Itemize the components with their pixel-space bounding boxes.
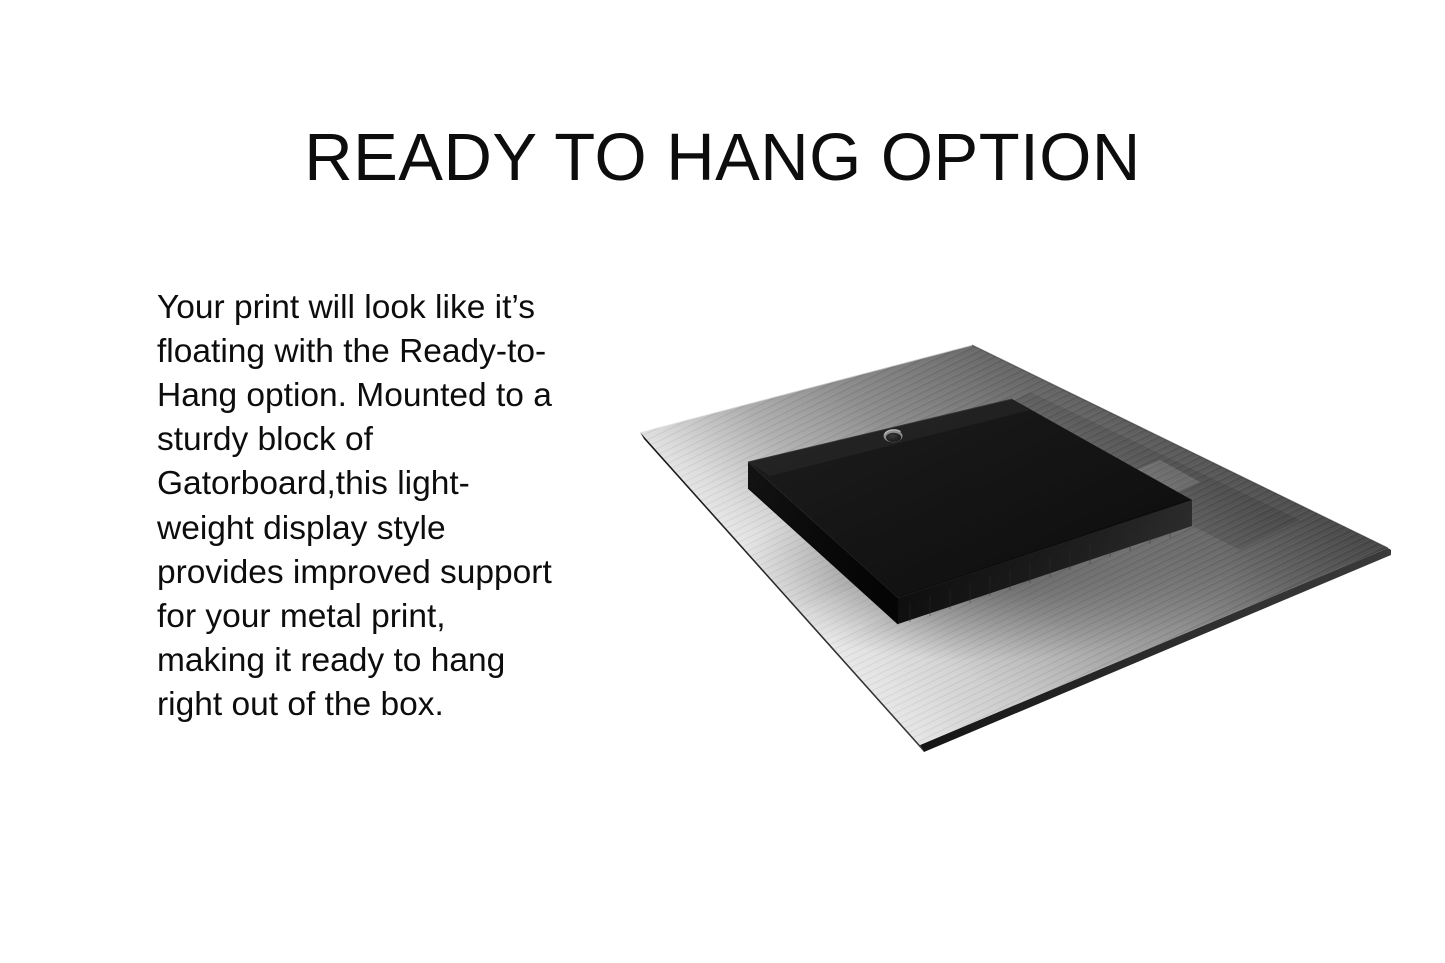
page-title: READY TO HANG OPTION — [0, 119, 1445, 197]
hanging-hole-icon — [884, 430, 903, 442]
slide-canvas: READY TO HANG OPTION Your print will loo… — [0, 0, 1445, 963]
body-paragraph: Your print will look like it’s floating … — [157, 286, 557, 728]
hanging-hole-bore — [886, 433, 901, 442]
ready-to-hang-mount-diagram — [600, 300, 1430, 800]
